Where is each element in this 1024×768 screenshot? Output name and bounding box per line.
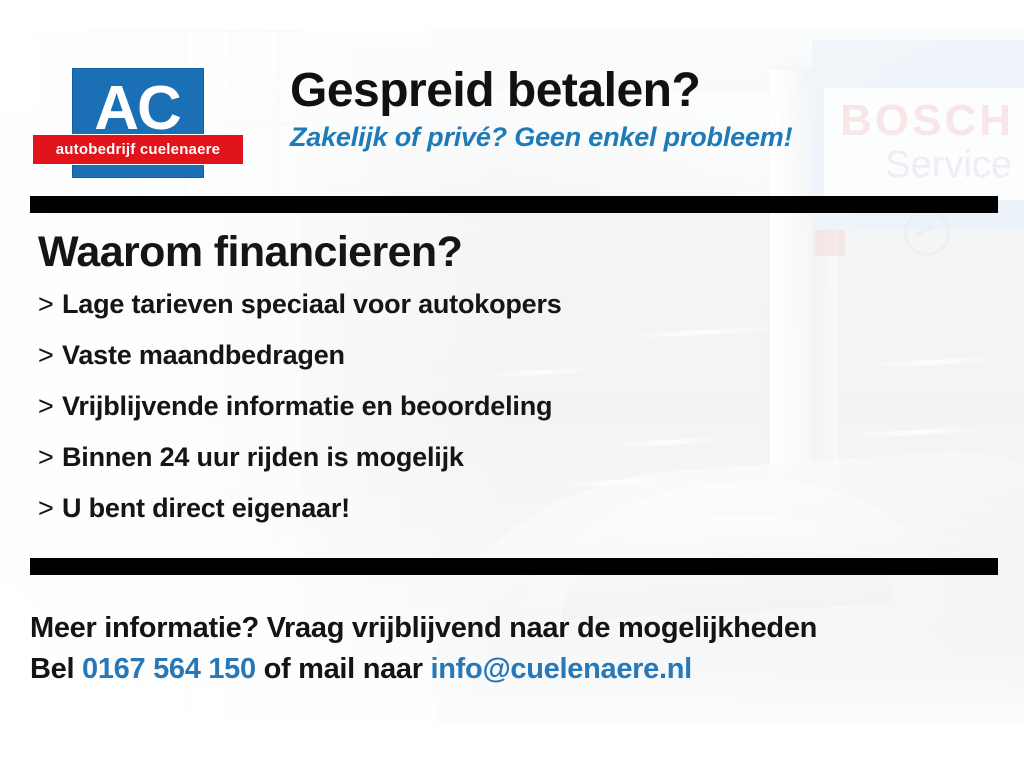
list-item: >Lage tarieven speciaal voor autokopers (38, 291, 738, 318)
promo-banner: BOSCH Service AC autobedrijf cuelenaere (0, 0, 1024, 768)
list-item: >U bent direct eigenaar! (38, 495, 738, 522)
contact-footer: Meer informatie? Vraag vrijblijvend naar… (30, 608, 990, 690)
chevron-right-icon: > (38, 495, 62, 522)
banner-content: AC autobedrijf cuelenaere Gespreid betal… (0, 0, 1024, 768)
list-item-label: Lage tarieven speciaal voor autokopers (62, 289, 562, 319)
benefits-block: Waarom financieren? >Lage tarieven speci… (38, 228, 738, 546)
header-subtitle: Zakelijk of privé? Geen enkel probleem! (290, 123, 990, 153)
header-block: Gespreid betalen? Zakelijk of privé? Gee… (290, 66, 990, 153)
logo-tagline: autobedrijf cuelenaere (33, 135, 243, 164)
logo-red-banner: autobedrijf cuelenaere (32, 134, 244, 165)
list-item: >Vaste maandbedragen (38, 342, 738, 369)
list-item-label: U bent direct eigenaar! (62, 493, 350, 523)
header-title: Gespreid betalen? (290, 66, 990, 117)
list-item-label: Vrijblijvende informatie en beoordeling (62, 391, 552, 421)
email-address[interactable]: info@cuelenaere.nl (431, 653, 692, 685)
mail-label: of mail naar (264, 653, 423, 685)
list-item: >Binnen 24 uur rijden is mogelijk (38, 444, 738, 471)
benefits-list: >Lage tarieven speciaal voor autokopers … (38, 291, 738, 522)
phone-number[interactable]: 0167 564 150 (82, 653, 256, 685)
benefits-heading: Waarom financieren? (38, 228, 738, 277)
bel-label: Bel (30, 653, 74, 685)
list-item-label: Vaste maandbedragen (62, 340, 345, 370)
list-item-label: Binnen 24 uur rijden is mogelijk (62, 442, 464, 472)
chevron-right-icon: > (38, 393, 62, 420)
chevron-right-icon: > (38, 444, 62, 471)
company-logo[interactable]: AC autobedrijf cuelenaere (32, 68, 244, 180)
contact-details: Bel 0167 564 150 of mail naar info@cuele… (30, 649, 990, 690)
chevron-right-icon: > (38, 342, 62, 369)
divider-bottom (30, 558, 998, 575)
divider-top (30, 196, 998, 213)
chevron-right-icon: > (38, 291, 62, 318)
contact-intro: Meer informatie? Vraag vrijblijvend naar… (30, 608, 990, 649)
list-item: >Vrijblijvende informatie en beoordeling (38, 393, 738, 420)
